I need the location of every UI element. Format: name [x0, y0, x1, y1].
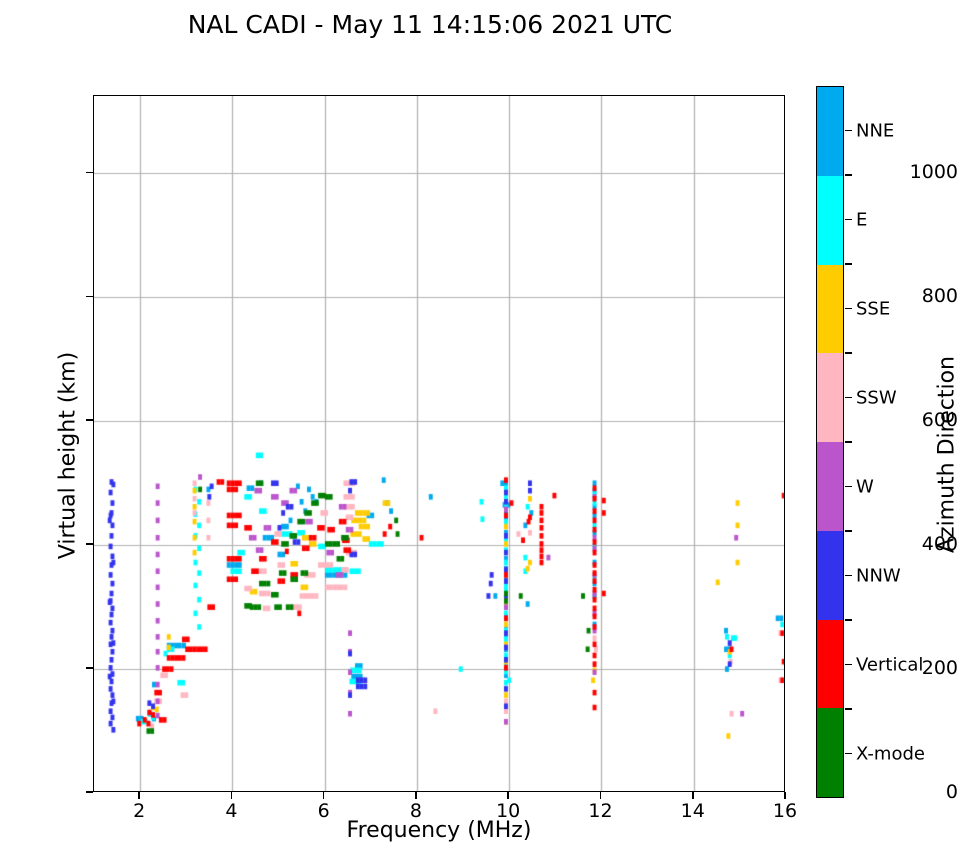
- colorbar-boundary-tick: [845, 352, 852, 353]
- colorbar-label-nne: NNE: [856, 120, 894, 141]
- colorbar-boundary-tick: [845, 708, 852, 709]
- colorbar-label-x-mode: X-mode: [856, 743, 925, 764]
- colorbar-label-nnw: NNW: [856, 565, 901, 586]
- colorbar-label-ssw: SSW: [856, 387, 897, 408]
- colorbar-tick: [845, 753, 852, 754]
- colorbar-boundary-tick: [845, 530, 852, 531]
- colorbar-boundary-tick: [845, 174, 852, 175]
- colorbar-boundary-tick: [845, 619, 852, 620]
- colorbar-tick: [845, 130, 852, 131]
- ionogram-figure: NAL CADI - May 11 14:15:06 2021 UTC 0200…: [0, 0, 958, 857]
- colorbar-boundary-tick: [845, 263, 852, 264]
- colorbar-label-w: W: [856, 476, 874, 497]
- colorbar-tick: [845, 575, 852, 576]
- colorbar-tick: [845, 397, 852, 398]
- colorbar-title: Azimuth Direction: [935, 205, 958, 705]
- colorbar-label-e: E: [856, 209, 867, 230]
- colorbar-tick: [845, 308, 852, 309]
- colorbar-labels: NNEESSESSWWNNWVerticalX-mode: [0, 0, 958, 857]
- colorbar-tick: [845, 486, 852, 487]
- colorbar-boundary-tick: [845, 441, 852, 442]
- colorbar-label-vertical: Vertical: [856, 654, 923, 675]
- colorbar-tick: [845, 664, 852, 665]
- colorbar-label-sse: SSE: [856, 298, 890, 319]
- colorbar-tick: [845, 219, 852, 220]
